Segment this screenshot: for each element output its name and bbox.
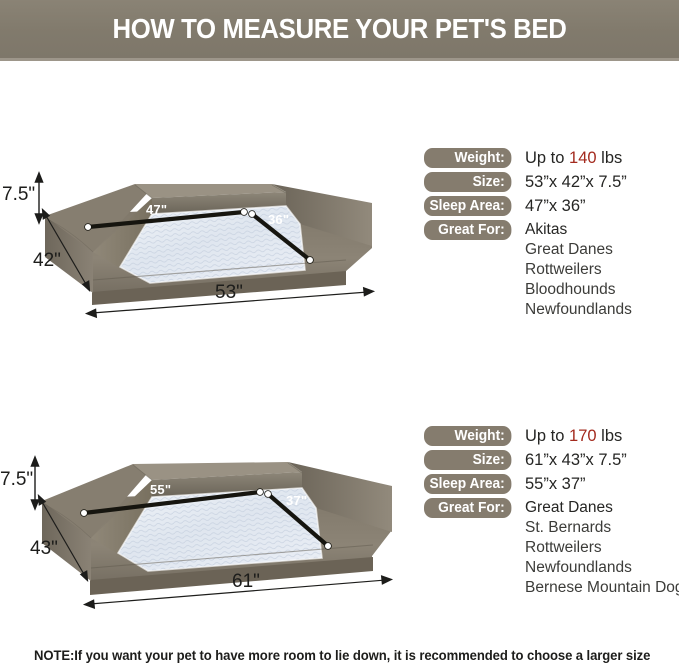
- weight-number: 140: [569, 149, 597, 167]
- sleep-area-value: 55”x 37”: [525, 474, 586, 494]
- size-label: Size:: [424, 450, 511, 470]
- bed-figure-large: 7.5" 42" 53" 47" 36": [0, 140, 400, 320]
- dimension-label-width-large: 53": [215, 282, 243, 304]
- sleep-width-label-large: 47": [146, 202, 167, 217]
- spec-row-sleep-area: Sleep Area: 55”x 37”: [424, 474, 674, 495]
- spec-panel-xlarge: Weight: Up to 170 lbs Size: 61”x 43”x 7.…: [424, 426, 674, 601]
- header-underline: [0, 58, 679, 61]
- list-item: Bernese Mountain Dogs: [525, 578, 679, 598]
- spec-row-weight: Weight: Up to 140 lbs: [424, 148, 674, 169]
- weight-unit: lbs: [601, 149, 622, 167]
- weight-label: Weight:: [424, 148, 511, 168]
- page-title: HOW TO MEASURE YOUR PET'S BED: [27, 0, 652, 58]
- weight-label: Weight:: [424, 426, 511, 446]
- list-item: Rottweilers: [525, 538, 679, 558]
- spec-row-great-for: Great For: Great Danes St. Bernards Rott…: [424, 498, 674, 598]
- sleep-depth-label-xlarge: 37": [286, 493, 307, 508]
- great-for-label: Great For:: [424, 220, 511, 240]
- list-item: Rottweilers: [525, 260, 632, 280]
- size-value: 61”x 43”x 7.5”: [525, 450, 627, 470]
- size-label: Size:: [424, 172, 511, 192]
- dimension-label-depth-large: 42": [33, 250, 61, 272]
- weight-prefix: Up to: [525, 149, 564, 167]
- breed-list-large: Akitas Great Danes Rottweilers Bloodhoun…: [525, 220, 632, 320]
- list-item: Newfoundlands: [525, 300, 632, 320]
- weight-value: Up to 170 lbs: [525, 426, 622, 446]
- sleep-area-label: Sleep Area:: [424, 196, 511, 216]
- list-item: Great Danes: [525, 498, 679, 518]
- sleep-width-label-xlarge: 55": [150, 482, 171, 497]
- spec-row-size: Size: 61”x 43”x 7.5”: [424, 450, 674, 471]
- spec-panel-large: Weight: Up to 140 lbs Size: 53”x 42”x 7.…: [424, 148, 674, 323]
- sleep-area-label: Sleep Area:: [424, 474, 511, 494]
- list-item: Great Danes: [525, 240, 632, 260]
- great-for-label: Great For:: [424, 498, 511, 518]
- bed-illustration-large: [0, 140, 400, 320]
- weight-prefix: Up to: [525, 427, 564, 445]
- weight-number: 170: [569, 427, 597, 445]
- sleep-area-value: 47”x 36”: [525, 196, 586, 216]
- weight-value: Up to 140 lbs: [525, 148, 622, 168]
- sleep-depth-label-large: 36": [268, 212, 289, 227]
- spec-row-great-for: Great For: Akitas Great Danes Rottweiler…: [424, 220, 674, 320]
- dimension-arrow-height-large: [35, 173, 42, 223]
- dimension-label-width-xlarge: 61": [232, 571, 260, 593]
- breed-list-xlarge: Great Danes St. Bernards Rottweilers New…: [525, 498, 679, 598]
- bed-figure-xlarge: 7.5" 43" 61" 55" 37": [0, 418, 400, 614]
- footer-note: NOTE:If you want your pet to have more r…: [34, 648, 650, 663]
- bed-illustration-xlarge: [0, 418, 400, 614]
- weight-unit: lbs: [601, 427, 622, 445]
- spec-row-weight: Weight: Up to 170 lbs: [424, 426, 674, 447]
- list-item: St. Bernards: [525, 518, 679, 538]
- list-item: Akitas: [525, 220, 632, 240]
- list-item: Bloodhounds: [525, 280, 632, 300]
- spec-row-sleep-area: Sleep Area: 47”x 36”: [424, 196, 674, 217]
- dimension-label-height-xlarge: 7.5": [0, 469, 33, 491]
- list-item: Newfoundlands: [525, 558, 679, 578]
- spec-row-size: Size: 53”x 42”x 7.5”: [424, 172, 674, 193]
- dimension-label-height-large: 7.5": [2, 184, 35, 206]
- dimension-label-depth-xlarge: 43": [30, 538, 58, 560]
- size-value: 53”x 42”x 7.5”: [525, 172, 627, 192]
